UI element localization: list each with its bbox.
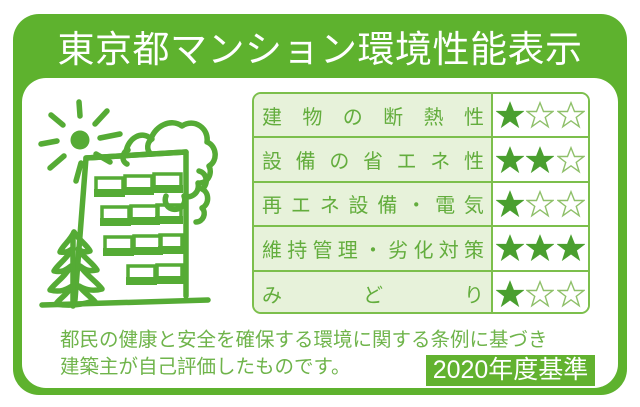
table-row: み ど り [254,272,588,314]
label-char: 備 [296,145,316,174]
label-char: ネ [320,189,340,218]
standard-year-badge: 2020年度基準 [426,355,595,386]
star-filled-icon [526,234,554,262]
star-filled-icon [526,146,554,174]
label-char: の [343,101,363,130]
label-char: り [464,279,484,308]
label-char: 断 [383,101,403,130]
label-char: 設 [262,145,282,174]
label-char: 管 [313,234,333,263]
label-char: の [329,145,349,174]
building-windows [94,174,184,285]
star-empty-icon [557,146,585,174]
disclaimer-line-2: 建築主が自己評価したものです。 [60,354,440,381]
label-char: 劣 [388,234,408,263]
rating-stars-insulation [493,94,588,136]
rating-stars-greenery [493,272,588,314]
table-row: 維 持 管 理 ・ 劣 化 対 策 [254,227,588,271]
label-char: 理 [338,234,358,263]
star-filled-icon [496,190,524,218]
label-char: 性 [464,101,484,130]
rating-label-renewable-electricity: 再 エ ネ 設 備 ・ 電 気 [254,183,493,225]
star-filled-icon [496,234,524,262]
label-char: 策 [464,234,484,263]
star-empty-icon [526,280,554,308]
label-char: ネ [430,145,450,174]
table-row: 再 エ ネ 設 備 ・ 電 気 [254,183,588,227]
label-char: 気 [464,189,484,218]
label-char: 設 [349,189,369,218]
label-char: 性 [464,145,484,174]
label-char: エ [397,145,417,174]
table-row: 設 備 の 省 エ ネ 性 [254,138,588,182]
label-char: 省 [363,145,383,174]
star-empty-icon [526,101,554,129]
label-char: 維 [262,234,282,263]
label-char: ・ [363,234,383,263]
star-empty-icon [526,190,554,218]
star-empty-icon [557,280,585,308]
page-title: 東京都マンション環境性能表示 [13,22,627,78]
label-char: 物 [302,101,322,130]
label-char: ・ [406,189,426,218]
rating-label-greenery: み ど り [254,272,493,314]
label-char: ど [363,279,383,308]
rating-table: 建 物 の 断 熱 性 設 備 の 省 エ ネ 性 [252,92,590,314]
star-empty-icon [557,190,585,218]
star-filled-icon [496,101,524,129]
rating-label-maintenance-durability: 維 持 管 理 ・ 劣 化 対 策 [254,227,493,269]
label-char: 持 [287,234,307,263]
rating-stars-renewable-electricity [493,183,588,225]
rating-label-energy-saving: 設 備 の 省 エ ネ 性 [254,138,493,180]
label-char: エ [291,189,311,218]
apartment-building-with-sun-cloud-tree-illustration [32,86,244,320]
environmental-performance-label: 東京都マンション環境性能表示 [0,0,640,407]
label-char: み [262,279,282,308]
star-filled-icon [496,146,524,174]
label-char: 熱 [424,101,444,130]
label-char: 化 [414,234,434,263]
rating-label-insulation: 建 物 の 断 熱 性 [254,94,493,136]
rating-stars-energy-saving [493,138,588,180]
label-char: 電 [435,189,455,218]
disclaimer-text: 都民の健康と安全を確保する環境に関する条例に基づき 建築主が自己評価したものです… [60,327,440,381]
sun-icon [41,102,120,181]
label-char: 建 [262,101,282,130]
label-char: 対 [439,234,459,263]
label-char: 備 [377,189,397,218]
rating-stars-maintenance-durability [493,227,588,269]
label-char: 再 [262,189,282,218]
table-row: 建 物 の 断 熱 性 [254,94,588,138]
disclaimer-line-1: 都民の健康と安全を確保する環境に関する条例に基づき [60,327,440,354]
star-empty-icon [557,101,585,129]
star-filled-icon [496,280,524,308]
star-filled-icon [557,234,585,262]
